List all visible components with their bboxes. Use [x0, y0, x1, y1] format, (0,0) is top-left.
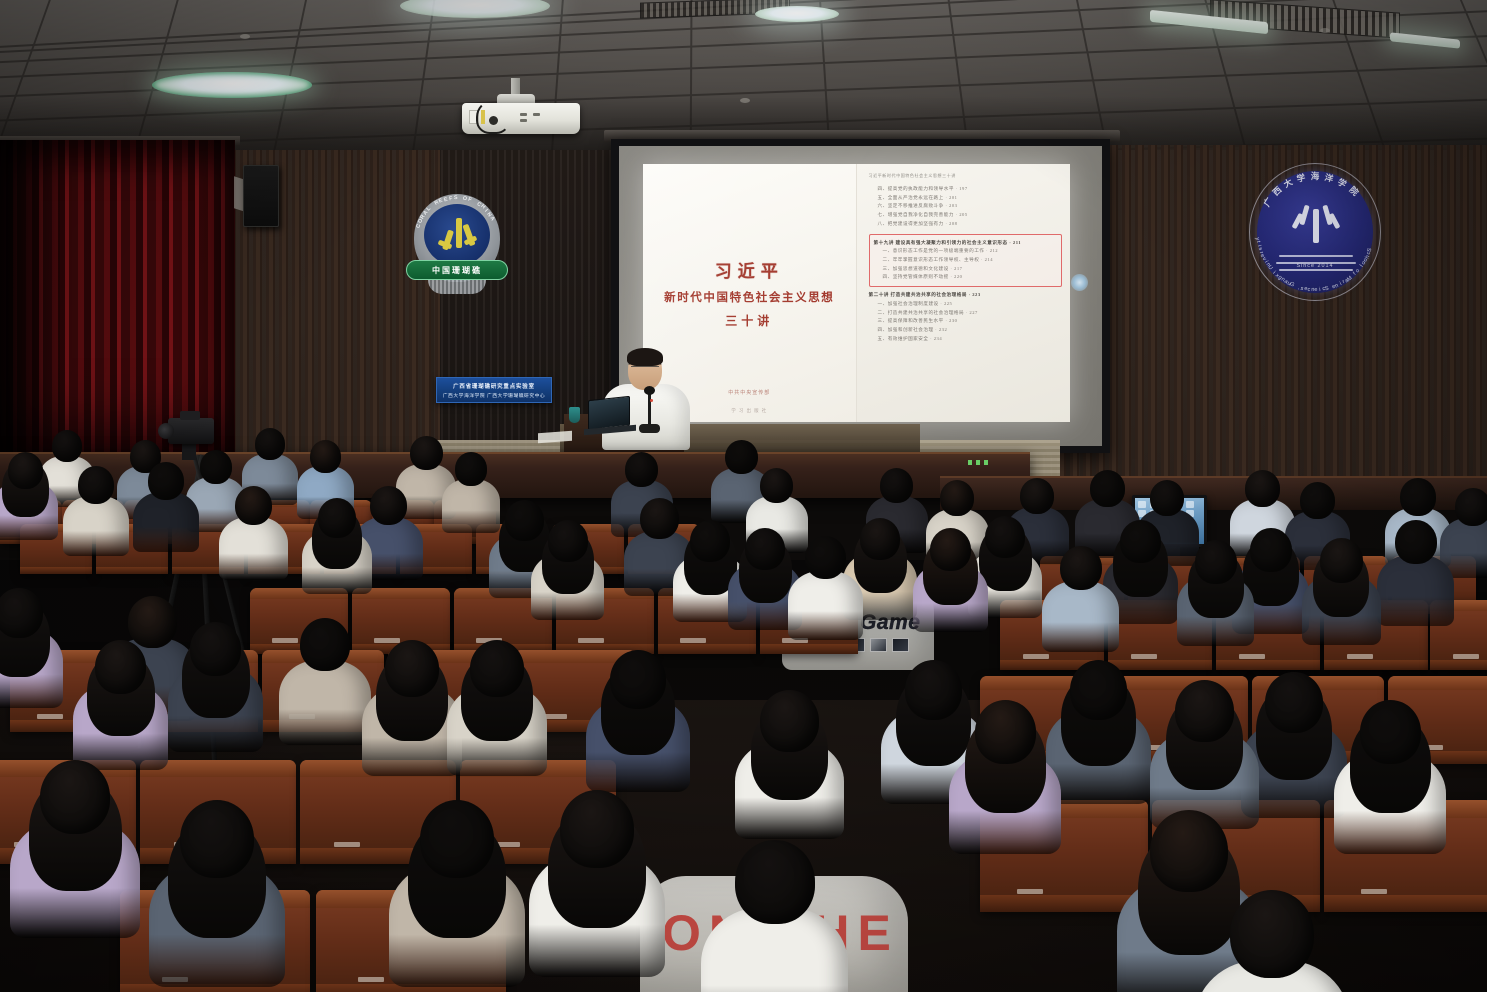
audience-head [300, 618, 350, 671]
audience-head [548, 520, 588, 562]
chair-number-plate [1347, 654, 1373, 659]
chair-number-plate [1361, 889, 1387, 894]
audience-head [735, 840, 815, 924]
logo-arc-glyph: n [1311, 287, 1315, 293]
audience-head [725, 440, 758, 474]
audience-head [760, 468, 793, 503]
logo-arc-glyph: y [1254, 237, 1260, 241]
audience-head [1300, 482, 1335, 519]
audience-head [1150, 480, 1184, 516]
audience-head [505, 500, 544, 541]
microphone-base [639, 424, 660, 433]
audience-head [1250, 528, 1292, 572]
chair-number-plate [358, 977, 384, 982]
audience-head [95, 640, 146, 694]
chair-seat-edge [658, 644, 756, 654]
smoke-detector-icon [1320, 28, 1330, 33]
audience-torso [133, 492, 199, 552]
logo-arc-glyph: S [453, 195, 457, 201]
chair-number-plate [1023, 654, 1049, 659]
logo-arc-glyph: t [1255, 241, 1261, 244]
logo-emblem-icon [1295, 203, 1337, 247]
chair-number-plate [1453, 654, 1479, 659]
toc-line: 六、坚定不移推进反腐败斗争 · 203 [869, 202, 1063, 211]
chair-seat-edge [1324, 895, 1487, 912]
logo-arc-glyph: F [467, 197, 472, 204]
coral-reefs-of-china-logo: CORAL REEFS OF CHINA 中国珊瑚礁 [398, 194, 516, 306]
audience-head [410, 436, 443, 470]
slide-title-line-1: 习近平 [715, 257, 784, 282]
toc-line: 三、加强思想道德和文化建设 · 217 [874, 265, 1058, 274]
audience-head [1195, 540, 1237, 584]
audience-head [745, 528, 785, 570]
chair-top-rail [1388, 676, 1487, 690]
audience-head [420, 800, 494, 878]
chair-number-plate [1239, 654, 1265, 659]
smoke-detector-icon [240, 34, 250, 39]
lecturer-hair [627, 348, 663, 366]
slide-running-head: 习近平新时代中国特色社会主义思想三十讲 [869, 173, 1063, 179]
audience-head [1060, 546, 1102, 590]
highlighted-chapter-items: 一、意识形态工作是党的一项极端重要的工作 · 212二、牢牢掌握意识形态工作领导… [874, 247, 1058, 282]
av-status-leds [968, 460, 992, 465]
audience-head [310, 440, 341, 473]
chair-seat-edge [1216, 660, 1320, 671]
microphone-stand [648, 392, 651, 426]
audience-head [1320, 538, 1363, 583]
audience-head [1020, 478, 1054, 514]
banner-line-2: 广西大学海洋学院 广西大学珊瑚礁研究中心 [443, 392, 545, 399]
next-chapter-items: 一、加强社会治理制度建设 · 225二、打造共建共治共享的社会治理格局 · 22… [869, 300, 1063, 344]
audience-head [385, 640, 439, 697]
audience-head [1455, 488, 1487, 526]
audience-head [455, 452, 487, 486]
wall-loudspeaker-icon [243, 165, 279, 227]
audience-head [1400, 478, 1436, 516]
toc-line: 四、坚持党管媒体原则不动摇 · 220 [874, 273, 1058, 282]
chair-number-plate [1017, 889, 1043, 894]
logo-base-ribs [428, 280, 486, 294]
cup-icon [569, 407, 580, 423]
toc-line: 七、增强党自我净化自我完善能力 · 205 [869, 211, 1063, 220]
next-chapter-title: 第二十讲 打造共建共治共享的社会治理格局 · 223 [869, 291, 1063, 300]
tripod-head [182, 444, 196, 460]
audience-torso [1377, 555, 1454, 625]
toc-line: 一、加强社会治理制度建设 · 225 [869, 300, 1063, 309]
audience-head [1150, 810, 1228, 892]
audience-head [470, 640, 524, 697]
chair-seat-edge [1108, 660, 1212, 671]
logo-arc-glyph: F [448, 195, 453, 202]
logo-banner: 中国珊瑚礁 [406, 260, 508, 280]
audience-head [860, 518, 900, 560]
toc-line: 二、牢牢掌握意识形态工作领导权、主导权 · 214 [874, 256, 1058, 265]
audience-head [1360, 700, 1421, 764]
chair-top-rail [1116, 676, 1248, 690]
video-camera-icon [168, 418, 214, 444]
audience-head [8, 452, 43, 489]
audience-head [560, 790, 634, 868]
audience-head [180, 800, 254, 878]
toc-line: 二、打造共建共治共享的社会治理格局 · 227 [869, 309, 1063, 318]
audience-head [625, 452, 658, 487]
logo-arc-glyph: c [1322, 286, 1326, 292]
slide-title-line-2: 新时代中国特色社会主义思想 [664, 289, 834, 305]
audience-torso [279, 660, 371, 744]
banner-line-1: 广西省珊瑚礁研究重点实验室 [453, 382, 535, 390]
logo-arc-glyph: i [1319, 287, 1321, 293]
toc-line: 三、提高保障和改善民生水平 · 230 [869, 317, 1063, 326]
microphone-indicator [650, 399, 653, 402]
chair-number-plate [374, 638, 400, 643]
projector-button[interactable] [533, 113, 540, 116]
chair-seat-edge [96, 567, 168, 575]
projector-button[interactable] [520, 113, 527, 116]
audience-torso [788, 571, 864, 640]
audience-head [318, 498, 356, 538]
chair-seat-edge [1430, 660, 1487, 671]
chair-seat-edge [20, 567, 92, 575]
audience-head [905, 660, 962, 720]
logo-arc-glyph: e [1315, 287, 1319, 293]
toc-line: 五、有效维护国家安全 · 234 [869, 335, 1063, 344]
curtain-shadow [0, 140, 60, 470]
toc-line: 四、提高党的执政能力和领导水平 · 197 [869, 185, 1063, 194]
chair-seat-edge [760, 644, 858, 654]
chair-number-plate [1131, 654, 1157, 659]
audience-head [1090, 470, 1125, 507]
projector-button[interactable] [520, 119, 527, 122]
audience-head [200, 450, 232, 484]
toc-items-above-box: 四、提高党的执政能力和领导水平 · 197五、全面从严治党永远在路上 · 201… [869, 185, 1063, 229]
slide-right-page: 习近平新时代中国特色社会主义思想三十讲 四、提高党的执政能力和领导水平 · 19… [857, 164, 1071, 422]
chair-number-plate [37, 714, 63, 719]
projected-slide: 习近平 新时代中国特色社会主义思想 三十讲 中共中央宣传部 学 习 出 版 社 … [643, 164, 1070, 422]
screen-surface: 习近平 新时代中国特色社会主义思想 三十讲 中共中央宣传部 学 习 出 版 社 … [619, 146, 1102, 446]
lectern-banner-sign: 广西省珊瑚礁研究重点实验室 广西大学海洋学院 广西大学珊瑚礁研究中心 [436, 377, 552, 403]
audience-head [1265, 672, 1323, 733]
audience-head [255, 428, 285, 460]
slide-title-line-3: 三十讲 [725, 312, 773, 329]
audience-head [1230, 890, 1314, 978]
chair-number-plate [334, 842, 360, 847]
eyeglasses-icon [631, 366, 659, 371]
camera-lens-icon [158, 423, 174, 439]
audience-head [1120, 520, 1161, 563]
audience-head [760, 690, 819, 752]
audience-torso [63, 496, 129, 556]
audience-head [880, 468, 913, 503]
screen-glare-spot [1071, 274, 1088, 291]
toc-line: 八、把党建设得更加坚强有力 · 208 [869, 220, 1063, 229]
audience-head [190, 622, 241, 676]
audience-head [1245, 470, 1280, 507]
audience-head [690, 520, 730, 562]
audience-head [40, 760, 110, 834]
audience-head [930, 528, 971, 571]
toc-line: 五、全面从严治党永远在路上 · 201 [869, 194, 1063, 203]
lecture-hall-photo: 习近平 新时代中国特色社会主义思想 三十讲 中共中央宣传部 学 习 出 版 社 … [0, 0, 1487, 992]
ceiling-light-icon [755, 6, 839, 22]
microphone-icon [644, 386, 655, 395]
ceiling-light-icon [152, 72, 312, 98]
audience-head [128, 596, 177, 648]
audience-head [1070, 660, 1127, 720]
audience-torso [1042, 581, 1119, 651]
chair-number-plate [680, 638, 706, 643]
audience-head [52, 430, 82, 462]
chair-number-plate [272, 638, 298, 643]
audience-head [940, 480, 974, 516]
chair-slats [359, 599, 443, 645]
chair-seat-edge [1324, 660, 1428, 671]
toc-line: 一、意识形态工作是党的一项极端重要的工作 · 212 [874, 247, 1058, 256]
logo-since-text: Since 2014 [1243, 263, 1387, 269]
audience-head [1175, 680, 1234, 742]
audience-head [1395, 520, 1437, 564]
logo-arc-glyph: e [1304, 286, 1308, 292]
audience-head [0, 588, 43, 638]
audience-torso [442, 479, 501, 533]
guangxi-university-marine-logo: 广西大学海洋学院 School of Marine Sciences, Guan… [1243, 163, 1387, 309]
highlighted-chapter-title: 第十九讲 建设具有强大凝聚力和引领力的社会主义意识形态 · 211 [874, 239, 1058, 248]
toc-line: 四、加强和创新社会治理 · 232 [869, 326, 1063, 335]
audience-head [975, 700, 1036, 764]
audience-head [370, 486, 407, 525]
audience-head [640, 498, 679, 539]
logo-banner-text: 中国珊瑚礁 [432, 265, 482, 276]
audience-head [805, 536, 846, 579]
audience-head [985, 516, 1025, 558]
slide-left-page: 习近平 新时代中国特色社会主义思想 三十讲 中共中央宣传部 学 习 出 版 社 [643, 164, 857, 422]
highlighted-chapter-box: 第十九讲 建设具有强大凝聚力和引领力的社会主义意识形态 · 211 一、意识形态… [869, 234, 1063, 288]
chair-number-plate [578, 638, 604, 643]
audience-torso [219, 517, 288, 580]
projector-cable [476, 100, 510, 134]
audience-head [610, 650, 666, 709]
audience-head [235, 486, 272, 525]
audience-head [78, 466, 114, 504]
audience-head [148, 462, 184, 500]
camera-handle [180, 411, 200, 420]
